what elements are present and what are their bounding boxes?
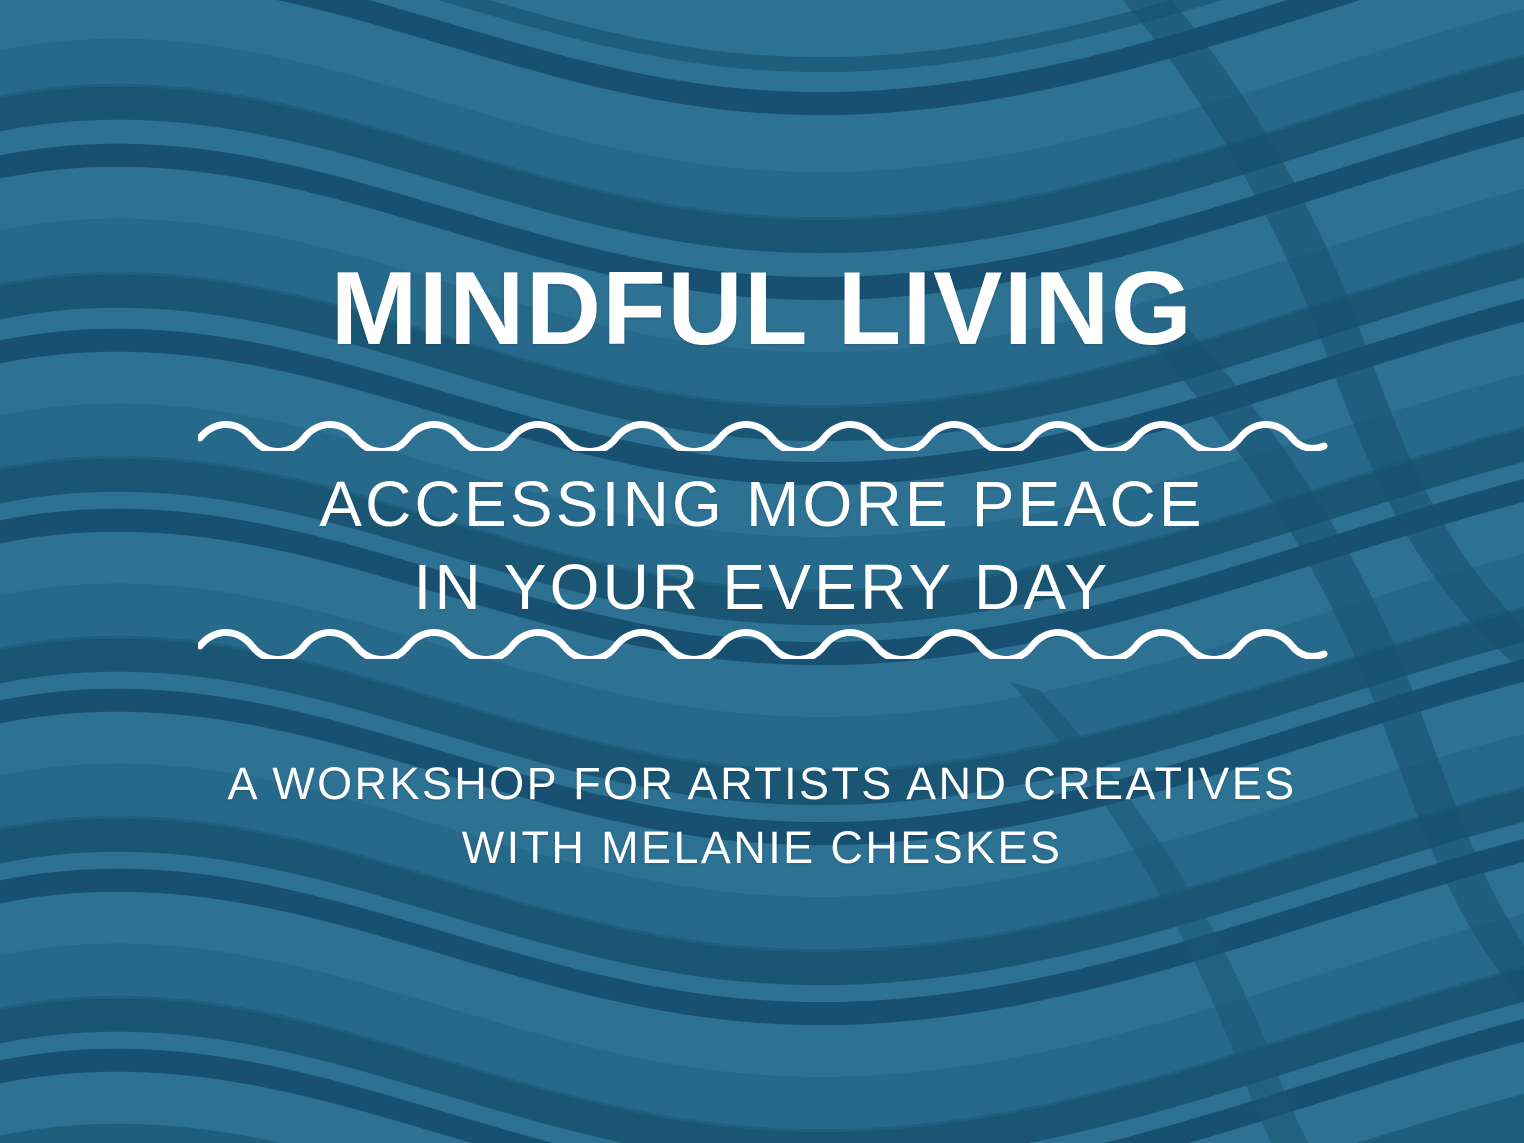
credits-line-1: A WORKSHOP FOR ARTISTS AND CREATIVES — [0, 752, 1524, 816]
wavy-divider-top-icon — [198, 417, 1330, 451]
slide-content: MINDFUL LIVING ACCESSING MORE PEACE IN Y… — [0, 0, 1524, 1143]
subtitle-line-2: IN YOUR EVERY DAY — [0, 546, 1524, 629]
credits: A WORKSHOP FOR ARTISTS AND CREATIVES WIT… — [0, 752, 1524, 880]
subtitle-line-1: ACCESSING MORE PEACE — [0, 463, 1524, 546]
title-slide: MINDFUL LIVING ACCESSING MORE PEACE IN Y… — [0, 0, 1524, 1143]
credits-line-2: WITH MELANIE CHESKES — [0, 816, 1524, 880]
page-title: MINDFUL LIVING — [0, 253, 1524, 365]
subtitle: ACCESSING MORE PEACE IN YOUR EVERY DAY — [0, 463, 1524, 629]
wavy-divider-bottom-icon — [198, 625, 1330, 659]
